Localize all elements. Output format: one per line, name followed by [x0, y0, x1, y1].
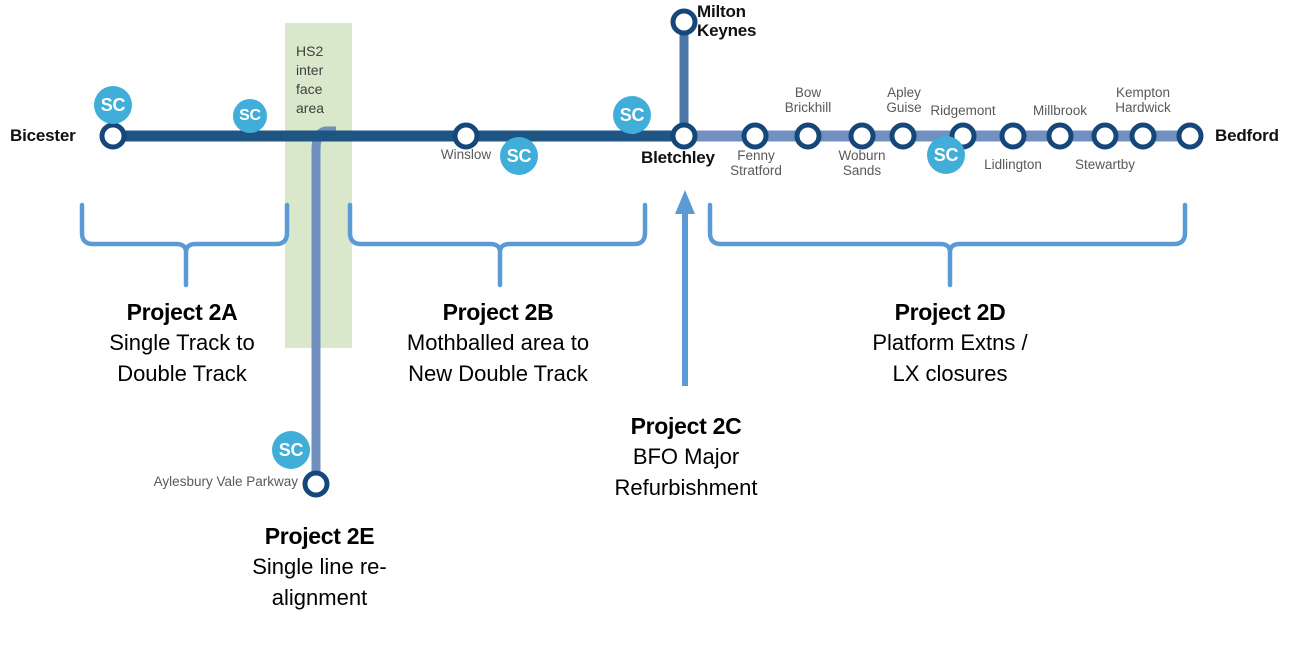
milton-keynes-line-2: Keynes: [697, 21, 787, 40]
project-2a-block: Project 2A Single Track to Double Track: [57, 297, 307, 389]
hs2-interface-label: HS2 inter face area: [296, 42, 342, 118]
station-marker-woburn-sands: [851, 125, 873, 147]
project-2c-desc-line-2: Refurbishment: [570, 472, 802, 503]
station-marker-lidlington: [1002, 125, 1024, 147]
station-label-fenny-stratford: FennyStratford: [716, 148, 796, 178]
station-marker-bletchley: [673, 125, 695, 147]
sc-badge-bletchley-west[interactable]: SC: [613, 96, 651, 134]
station-label-woburn-sands: WoburnSands: [822, 148, 902, 178]
sc-badge-ridgemont[interactable]: SC: [927, 136, 965, 174]
station-marker-winslow: [455, 125, 477, 147]
station-label-aylesbury-vale-parkway: Aylesbury Vale Parkway: [148, 474, 298, 489]
station-label-bletchley: Bletchley: [641, 148, 715, 168]
station-label-milton-keynes: Milton Keynes: [697, 2, 787, 40]
project-2d-desc-line-1: Platform Extns /: [830, 327, 1070, 358]
project-2b-desc-line-2: New Double Track: [364, 358, 632, 389]
hs2-line-2: inter: [296, 61, 342, 80]
project-2a-title: Project 2A: [57, 297, 307, 327]
project-2d-title: Project 2D: [830, 297, 1070, 327]
brace-project-2b: [350, 205, 645, 285]
arrow-project-2c: [675, 190, 695, 386]
station-marker-bedford: [1179, 125, 1201, 147]
project-2c-block: Project 2C BFO Major Refurbishment: [570, 411, 802, 503]
project-2d-block: Project 2D Platform Extns / LX closures: [830, 297, 1070, 389]
project-2b-desc-line-1: Mothballed area to: [364, 327, 632, 358]
project-2e-desc-line-2: alignment: [192, 582, 447, 613]
station-marker-bow-brickhill: [797, 125, 819, 147]
sc-badge-bicester[interactable]: SC: [94, 86, 132, 124]
station-marker-apley-guise: [892, 125, 914, 147]
station-marker-millbrook: [1049, 125, 1071, 147]
station-label-millbrook: Millbrook: [1020, 103, 1100, 118]
project-2e-title: Project 2E: [192, 521, 447, 551]
sc-badge-text: SC: [279, 440, 303, 461]
sc-badge-text: SC: [101, 95, 125, 116]
milton-keynes-line-1: Milton: [697, 2, 787, 21]
hs2-line-1: HS2: [296, 42, 342, 61]
station-label-stewartby: Stewartby: [1065, 157, 1145, 172]
sc-badge-winslow[interactable]: SC: [500, 137, 538, 175]
station-label-kempton-hardwick: KemptonHardwick: [1103, 85, 1183, 115]
project-2b-title: Project 2B: [364, 297, 632, 327]
project-2e-desc-line-1: Single line re-: [192, 551, 447, 582]
project-2a-desc-line-1: Single Track to: [57, 327, 307, 358]
sc-badge-text: SC: [620, 105, 644, 126]
hs2-line-4: area: [296, 99, 342, 118]
hs2-line-3: face: [296, 80, 342, 99]
station-marker-fenny-stratford: [744, 125, 766, 147]
sc-badge-mid-west[interactable]: SC: [233, 99, 267, 133]
project-2b-block: Project 2B Mothballed area to New Double…: [364, 297, 632, 389]
brace-project-2d: [710, 205, 1185, 285]
sc-badge-text: SC: [934, 145, 958, 166]
station-marker-kempton-hardwick: [1132, 125, 1154, 147]
station-label-lidlington: Lidlington: [973, 157, 1053, 172]
rail-line-diagram: HS2 inter face area Bicester Bedford Mil…: [0, 0, 1290, 645]
project-2c-title: Project 2C: [570, 411, 802, 441]
sc-badge-text: SC: [507, 146, 531, 167]
project-2d-desc-line-2: LX closures: [830, 358, 1070, 389]
station-label-bicester: Bicester: [10, 126, 76, 146]
station-label-winslow: Winslow: [426, 147, 506, 162]
station-label-bow-brickhill: BowBrickhill: [768, 85, 848, 115]
station-label-ridgemont: Ridgemont: [923, 103, 1003, 118]
station-marker-bicester: [102, 125, 124, 147]
station-marker-aylesbury-vale-parkway: [305, 473, 327, 495]
project-2c-desc-line-1: BFO Major: [570, 441, 802, 472]
sc-badge-aylesbury[interactable]: SC: [272, 431, 310, 469]
station-marker-milton-keynes: [673, 11, 695, 33]
station-label-bedford: Bedford: [1215, 126, 1279, 146]
project-2a-desc-line-2: Double Track: [57, 358, 307, 389]
station-marker-stewartby: [1094, 125, 1116, 147]
project-2e-block: Project 2E Single line re- alignment: [192, 521, 447, 613]
brace-project-2a: [82, 205, 287, 285]
sc-badge-text: SC: [239, 107, 261, 125]
